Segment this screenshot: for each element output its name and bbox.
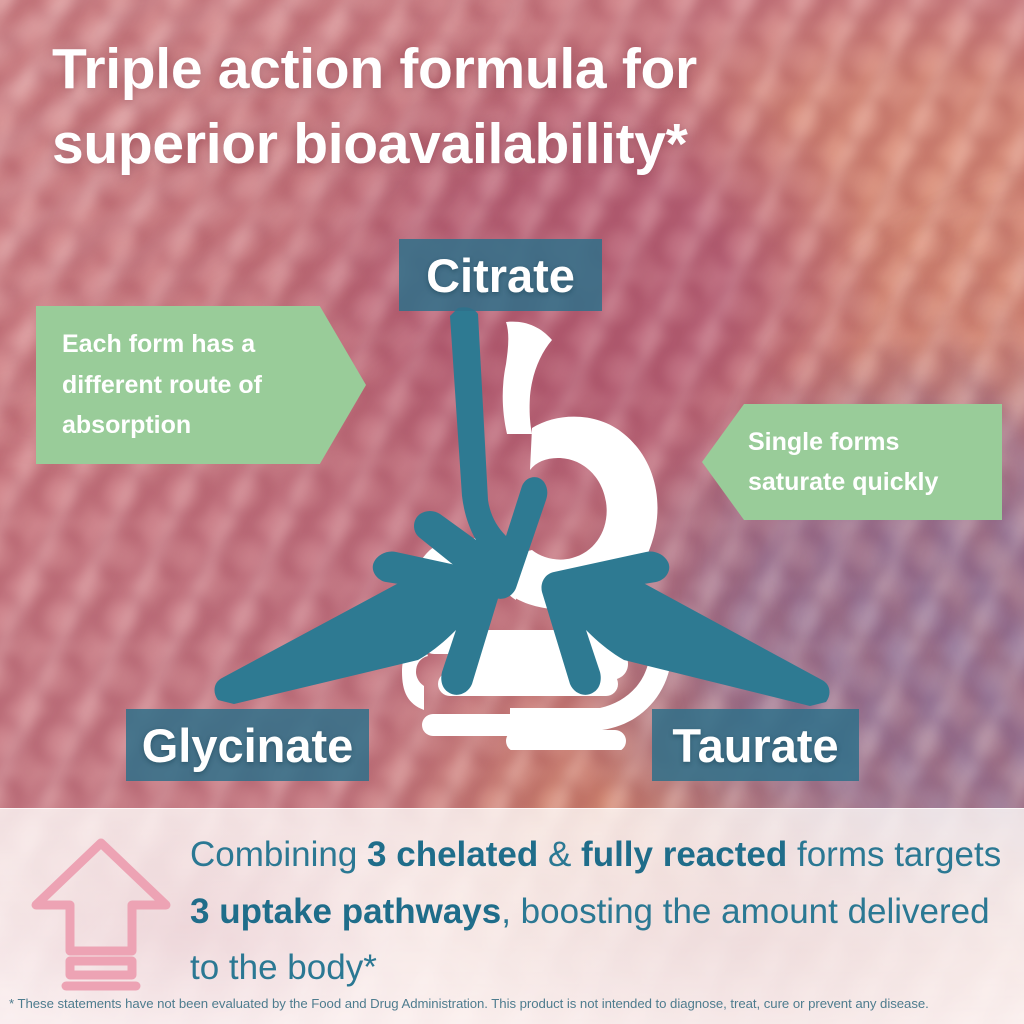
body-bold-2: fully reacted — [581, 835, 787, 874]
headline-line-2: superior bioavailability* — [52, 107, 912, 182]
body-copy: Combining 3 chelated & fully reacted for… — [190, 827, 1010, 997]
body-bold-1: 3 chelated — [367, 835, 538, 874]
label-citrate: Citrate — [399, 239, 602, 311]
label-citrate-text: Citrate — [426, 248, 575, 303]
body-bold-3: 3 uptake pathways — [190, 892, 501, 931]
absorption-arrows — [200, 300, 840, 730]
headline-line-1: Triple action formula for — [52, 37, 697, 101]
label-taurate-text: Taurate — [672, 718, 838, 773]
up-left-arrow-icon — [542, 551, 830, 706]
up-arrow-icon — [26, 833, 176, 993]
body-text-1: Combining — [190, 835, 367, 874]
down-arrow-icon — [414, 307, 547, 599]
disclaimer: * These statements have not been evaluat… — [9, 995, 1019, 1012]
label-glycinate: Glycinate — [126, 709, 369, 781]
infographic-poster: Triple action formula for superior bioav… — [0, 0, 1024, 1024]
label-glycinate-text: Glycinate — [142, 718, 354, 773]
label-taurate: Taurate — [652, 709, 859, 781]
body-text-3: forms targets — [787, 835, 1001, 874]
body-text-2: & — [538, 835, 581, 874]
headline: Triple action formula for superior bioav… — [52, 32, 912, 182]
bottom-panel: Combining 3 chelated & fully reacted for… — [0, 808, 1024, 1024]
up-right-arrow-icon — [215, 551, 501, 704]
